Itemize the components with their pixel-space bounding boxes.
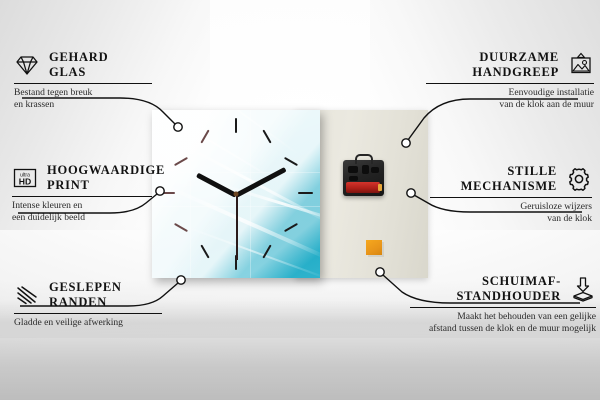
feature-title: DUURZAME HANDGREEP bbox=[472, 50, 559, 79]
marker-geslepen-randen bbox=[177, 276, 185, 284]
feature-subtitle: Geruisloze wijzers van de klok bbox=[422, 201, 592, 224]
feature-title: HOOGWAARDIGE PRINT bbox=[47, 163, 165, 192]
feature-gehard-glas: GEHARD GLAS Bestand tegen breuk en krass… bbox=[14, 50, 164, 111]
diagonal-lines-icon bbox=[14, 282, 40, 308]
press-pad-icon bbox=[570, 276, 596, 302]
feature-title: GESLEPEN RANDEN bbox=[49, 280, 122, 309]
feature-stille-mechanisme: STILLE MECHANISME Geruisloze wijzers van… bbox=[422, 164, 592, 225]
feature-divider bbox=[430, 197, 592, 198]
ultra-hd-icon: ultra HD bbox=[12, 165, 38, 191]
feature-geslepen-randen: GESLEPEN RANDEN Gladde en veilige afwerk… bbox=[14, 280, 174, 329]
infographic-canvas: GEHARD GLAS Bestand tegen breuk en krass… bbox=[0, 0, 600, 400]
marker-stille-mechanisme bbox=[407, 189, 415, 197]
feature-title: GEHARD GLAS bbox=[49, 50, 108, 79]
diamond-icon bbox=[14, 52, 40, 78]
feature-divider bbox=[14, 83, 152, 84]
feature-hoogwaardige-print: ultra HD HOOGWAARDIGE PRINT Intense kleu… bbox=[12, 163, 172, 224]
marker-schuimaf-standhouder bbox=[376, 268, 384, 276]
feature-subtitle: Eenvoudige installatie van de klok aan d… bbox=[414, 87, 594, 110]
feature-subtitle: Bestand tegen breuk en krassen bbox=[14, 87, 164, 110]
feature-divider bbox=[410, 307, 596, 308]
picture-frame-icon bbox=[568, 52, 594, 78]
feature-title: SCHUIMAF- STANDHOUDER bbox=[456, 274, 561, 303]
feature-subtitle: Intense kleuren en een duidelijk beeld bbox=[12, 200, 172, 223]
feature-divider bbox=[426, 83, 594, 84]
marker-duurzame-handgreep bbox=[402, 139, 410, 147]
feature-duurzame-handgreep: DUURZAME HANDGREEP Eenvoudige installati… bbox=[414, 50, 594, 111]
feature-title: STILLE MECHANISME bbox=[461, 164, 557, 193]
gear-icon bbox=[566, 166, 592, 192]
clock-center-hub bbox=[234, 192, 239, 197]
feature-divider bbox=[14, 313, 162, 314]
marker-gehard-glas bbox=[174, 123, 182, 131]
feature-subtitle: Maakt het behouden van een gelijke afsta… bbox=[400, 311, 596, 334]
feature-schuimaf-standhouder: SCHUIMAF- STANDHOUDER Maakt het behouden… bbox=[400, 274, 596, 335]
svg-text:HD: HD bbox=[19, 176, 31, 186]
feature-divider bbox=[12, 196, 152, 197]
feature-subtitle: Gladde en veilige afwerking bbox=[14, 317, 174, 329]
